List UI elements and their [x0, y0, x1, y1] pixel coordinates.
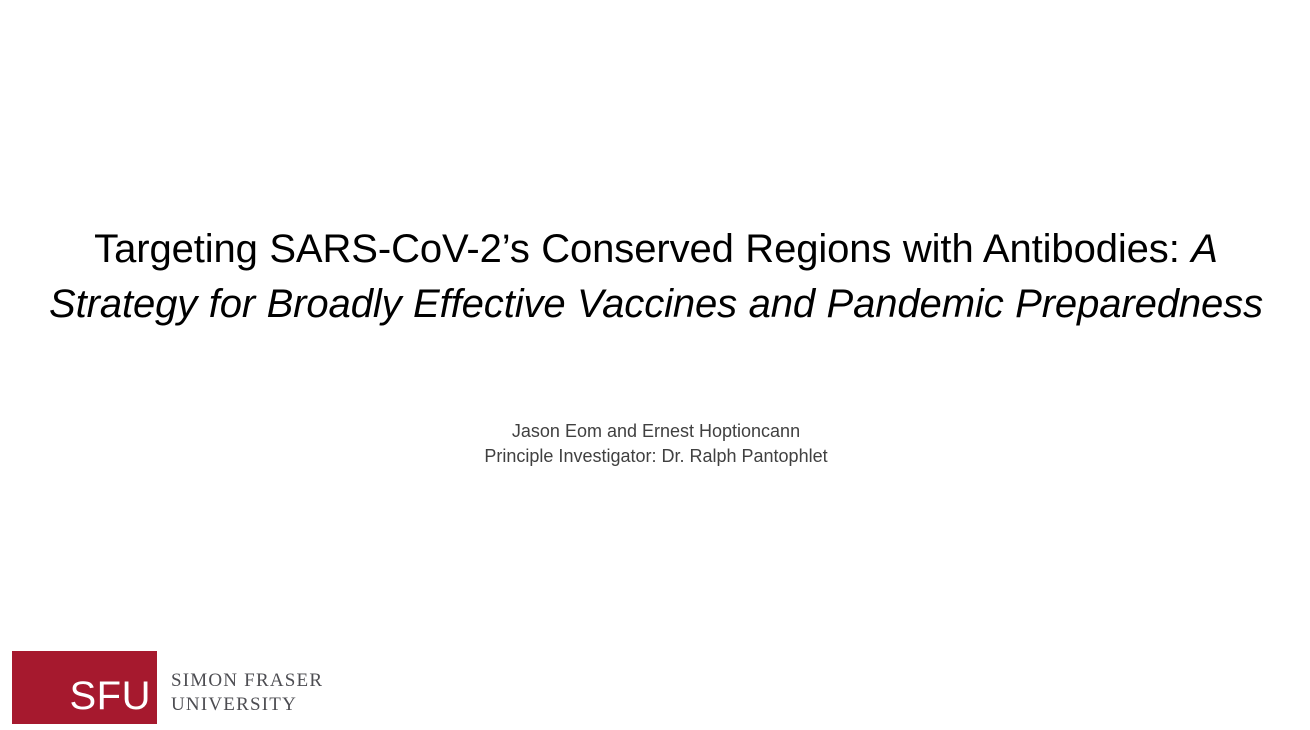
authors-line: Jason Eom and Ernest Hoptioncann: [40, 419, 1272, 444]
sfu-logo-wordmark-line-1: SIMON FRASER: [171, 669, 323, 693]
authors-block: Jason Eom and Ernest Hoptioncann Princip…: [40, 419, 1272, 469]
sfu-logo: SFU SIMON FRASER UNIVERSITY: [12, 651, 330, 724]
page-title-main: Targeting SARS-CoV-2’s Conserved Regions…: [94, 227, 1191, 271]
sfu-logo-mark: SFU: [12, 651, 157, 724]
page-title: Targeting SARS-CoV-2’s Conserved Regions…: [40, 222, 1272, 332]
title-block: Targeting SARS-CoV-2’s Conserved Regions…: [40, 222, 1272, 332]
sfu-logo-mark-text: SFU: [70, 676, 152, 716]
principal-investigator-line: Principle Investigator: Dr. Ralph Pantop…: [40, 444, 1272, 469]
sfu-logo-wordmark-line-2: UNIVERSITY: [171, 693, 323, 717]
presentation-title-slide: Targeting SARS-CoV-2’s Conserved Regions…: [0, 0, 1310, 730]
sfu-logo-wordmark: SIMON FRASER UNIVERSITY: [157, 651, 323, 724]
